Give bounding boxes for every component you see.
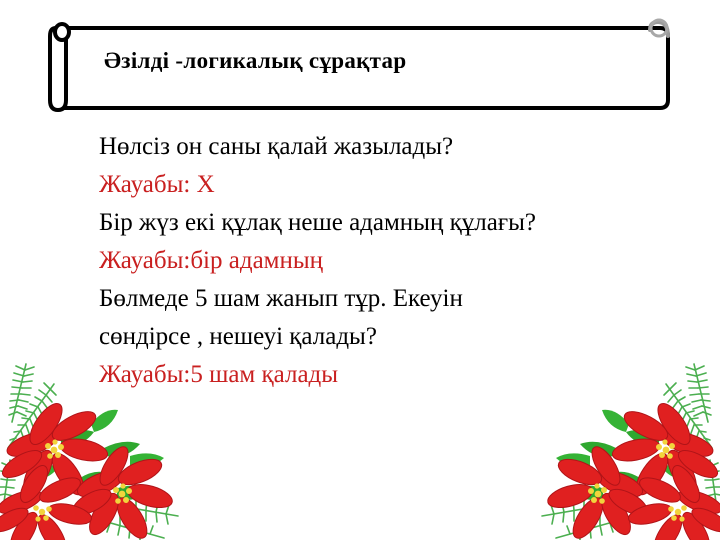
flower-center [588, 483, 607, 503]
flower-center [656, 439, 675, 458]
quiz-text-block: Нөлсіз он саны қалай жазылады? Жауабы: Х… [99, 128, 699, 394]
quiz-line-answer: Жауабы:бір адамның [99, 242, 699, 280]
poinsettia-flower-1 [0, 399, 110, 500]
quiz-line-question: Нөлсіз он саны қалай жазылады? [99, 128, 699, 166]
flower-center [33, 505, 52, 521]
poinsettia-flower-2 [69, 443, 175, 540]
flower-center [668, 505, 687, 521]
flower-center [113, 483, 132, 503]
quiz-line-question: сөндірсе , нешеуі қалады? [99, 318, 699, 356]
flower-center [45, 439, 64, 458]
poinsettia-flower-3 [626, 461, 720, 540]
quiz-line-answer: Жауабы:5 шам қалады [99, 356, 699, 394]
quiz-line-question: Бөлмеде 5 шам жанып тұр. Екеуін [99, 280, 699, 318]
holly-leaves-group [32, 410, 164, 518]
slide-canvas: Әзілді -логикалық сұрақтар Нөлсіз он сан… [0, 0, 720, 540]
holly-leaves-group [556, 410, 688, 518]
poinsettia-flower-2 [545, 443, 651, 540]
poinsettia-flower-1 [610, 399, 720, 500]
page-title: Әзілді -логикалық сұрақтар [104, 48, 644, 73]
poinsettia-flower-3 [0, 461, 94, 540]
quiz-line-answer: Жауабы: Х [99, 166, 699, 204]
quiz-line-question: Бір жүз екі құлақ неше адамның құлағы? [99, 204, 699, 242]
title-banner: Әзілді -логикалық сұрақтар [48, 14, 676, 114]
